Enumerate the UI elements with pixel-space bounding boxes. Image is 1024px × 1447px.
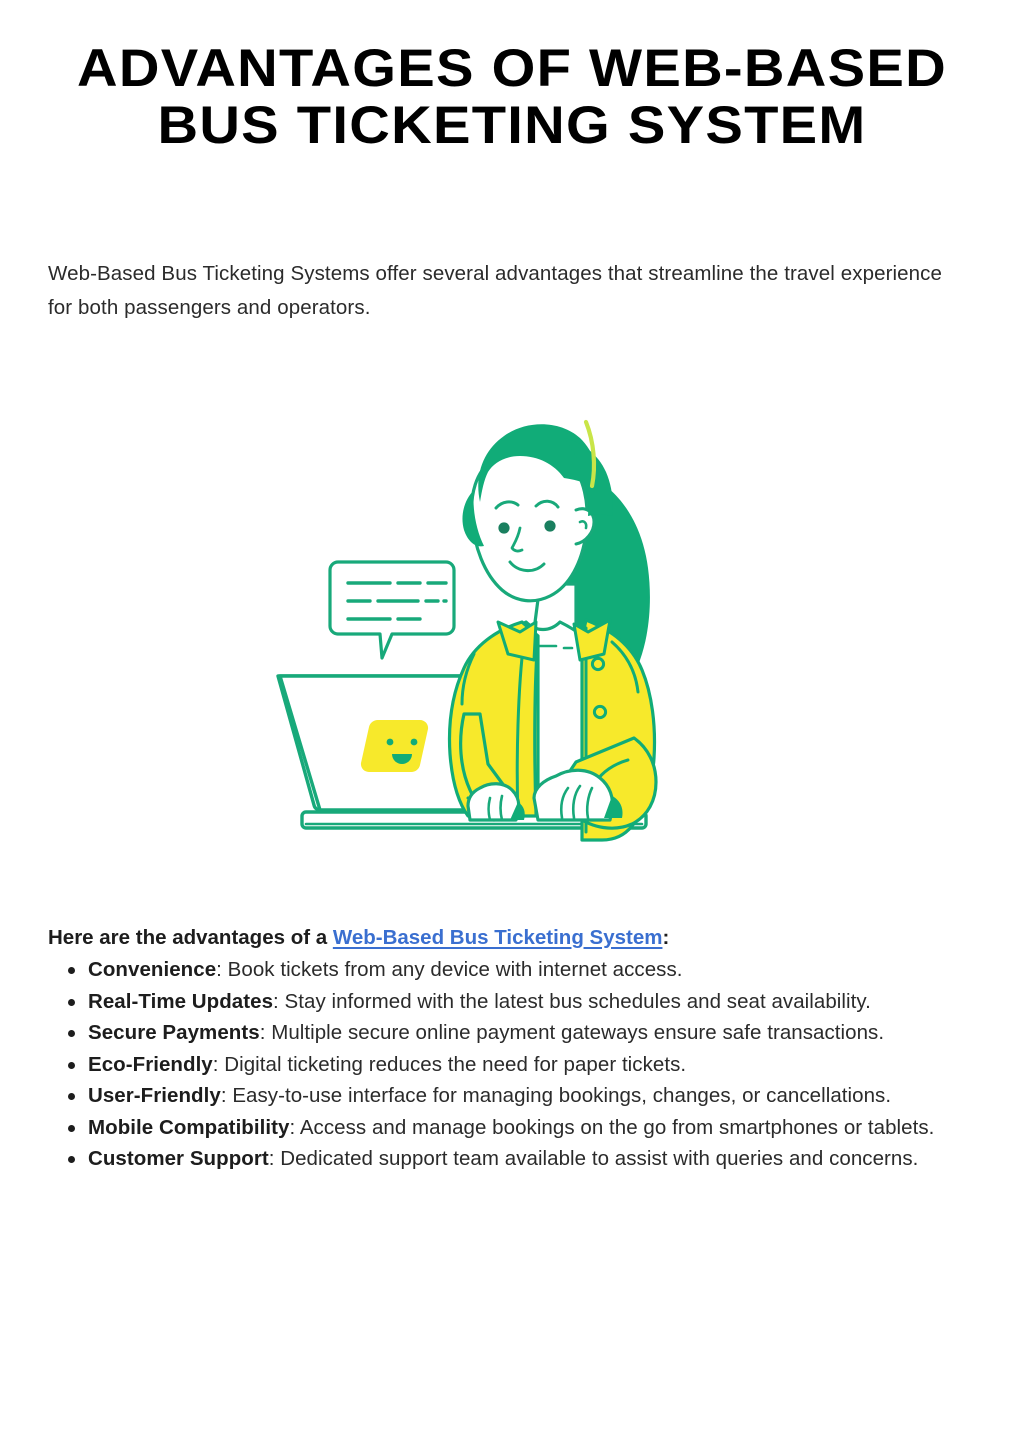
list-item-description: Multiple secure online payment gateways … (271, 1021, 884, 1044)
leadin-before: Here are the advantages of a (48, 926, 333, 949)
page-title-line-2: BUS TICKETING SYSTEM (20, 97, 1004, 154)
chat-bubble-icon (330, 562, 454, 658)
list-item-separator: : (221, 1084, 233, 1107)
list-item: Real-Time Updates: Stay informed with th… (88, 987, 1000, 1018)
page-title: ADVANTAGES OF WEB-BASED BUS TICKETING SY… (48, 40, 976, 154)
list-item: Customer Support: Dedicated support team… (88, 1144, 1000, 1175)
list-item-term: Convenience (88, 958, 216, 981)
web-based-bus-ticketing-system-link[interactable]: Web-Based Bus Ticketing System (333, 926, 663, 949)
list-item-separator: : (216, 958, 228, 981)
list-item: Secure Payments: Multiple secure online … (88, 1018, 1000, 1049)
list-item: Mobile Compatibility: Access and manage … (88, 1113, 1000, 1144)
list-item-term: Secure Payments (88, 1021, 260, 1044)
list-item-description: Digital ticketing reduces the need for p… (224, 1053, 686, 1076)
leadin-after: : (662, 926, 669, 949)
document-page: ADVANTAGES OF WEB-BASED BUS TICKETING SY… (0, 0, 1024, 1447)
list-item-term: Real-Time Updates (88, 990, 273, 1013)
list-item: Convenience: Book tickets from any devic… (88, 955, 1000, 986)
laptop-smiley-sticker (361, 720, 428, 772)
intro-paragraph: Web-Based Bus Ticketing Systems offer se… (48, 257, 963, 325)
list-item-separator: : (213, 1053, 225, 1076)
advantages-list: Convenience: Book tickets from any devic… (62, 955, 1000, 1176)
list-item: User-Friendly: Easy-to-use interface for… (88, 1081, 1000, 1112)
list-item-description: Easy-to-use interface for managing booki… (232, 1084, 891, 1107)
list-item-separator: : (269, 1147, 281, 1170)
jacket-button-1 (592, 658, 603, 669)
list-item-description: Book tickets from any device with intern… (228, 958, 683, 981)
eye-right (544, 520, 555, 531)
page-title-line-1: ADVANTAGES OF WEB-BASED (20, 40, 1004, 97)
list-item-term: Eco-Friendly (88, 1053, 213, 1076)
jacket-button-2 (594, 706, 605, 717)
list-item-term: User-Friendly (88, 1084, 221, 1107)
advantages-leadin: Here are the advantages of a Web-Based B… (48, 923, 968, 953)
list-item-term: Mobile Compatibility (88, 1116, 289, 1139)
list-item-description: Stay informed with the latest bus schedu… (285, 990, 871, 1013)
list-item-description: Access and manage bookings on the go fro… (300, 1116, 935, 1139)
illustration-woman-typing-on-laptop (268, 398, 760, 850)
eye-left (498, 522, 509, 533)
list-item-description: Dedicated support team available to assi… (280, 1147, 918, 1170)
woman-figure (450, 422, 656, 840)
list-item-separator: : (273, 990, 285, 1013)
list-item-separator: : (289, 1116, 299, 1139)
list-item: Eco-Friendly: Digital ticketing reduces … (88, 1050, 1000, 1081)
list-item-term: Customer Support (88, 1147, 269, 1170)
list-item-separator: : (260, 1021, 272, 1044)
